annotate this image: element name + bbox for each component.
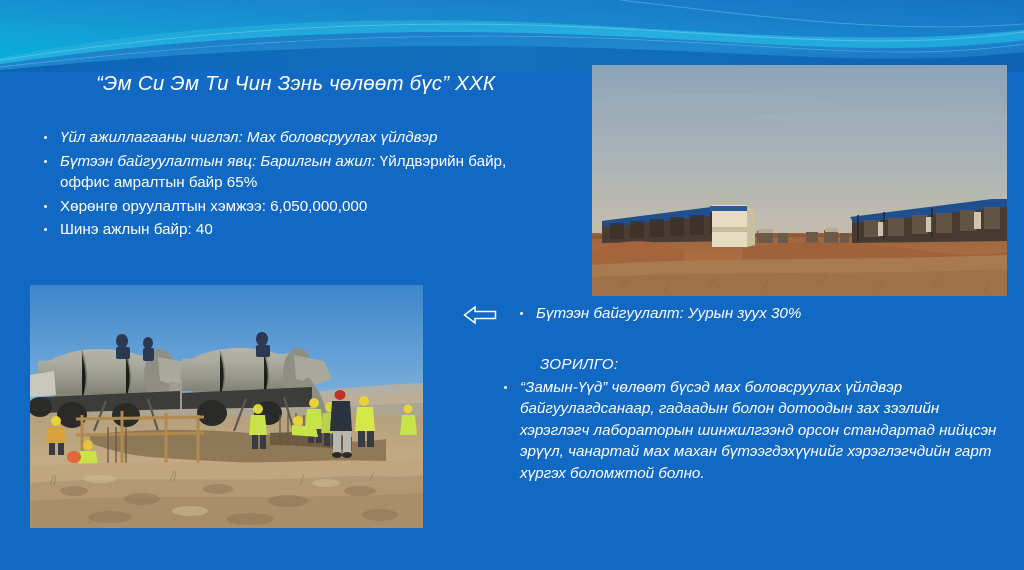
presentation-slide: “Эм Си Эм Ти Чин Зэнь чөлөөт бүс” ХХК Үй… [0, 0, 1024, 570]
goal-block: ЗОРИЛГО: “Замын-Үүд” чөлөөт бүсэд мах бо… [498, 354, 998, 486]
arrow-bullet-list: Бүтээн байгуулалт: Уурын зуух 30% [514, 303, 874, 327]
arrow-left-icon [462, 304, 498, 326]
list-item: Шинэ ажлын байр: 40 [38, 219, 538, 241]
wave-graphic [0, 0, 1024, 72]
top-wave-decoration [0, 0, 1024, 72]
bullet-rest-text: Шинэ ажлын байр: 40 [60, 221, 213, 238]
list-item: Бүтээн байгуулалтын явц: Барилгын ажил: … [38, 151, 538, 194]
main-bullet-list: Үйл ажиллагааны чиглэл: Мах боловсруулах… [38, 127, 538, 243]
bullet-rest-text: Хөрөнгө оруулалтын хэмжээ: 6,050,000,000 [60, 198, 367, 215]
factory-photo-graphic [592, 65, 1007, 296]
goal-heading: ЗОРИЛГО: [540, 354, 998, 376]
arrow-annotation-row: Бүтээн байгуулалт: Уурын зуух 30% [462, 303, 882, 329]
arrow-left-glyph [462, 304, 498, 326]
bullet-lead-text: Бүтээн байгуулалтын явц: Барилгын ажил: [60, 153, 380, 170]
list-item: Хөрөнгө оруулалтын хэмжээ: 6,050,000,000 [38, 196, 538, 218]
slide-title: “Эм Си Эм Ти Чин Зэнь чөлөөт бүс” ХХК [96, 72, 566, 96]
bullet-lead-text: Үйл ажиллагааны чиглэл: Мах боловсруулах… [60, 129, 437, 146]
goal-bullet-list: “Замын-Үүд” чөлөөт бүсэд мах боловсруула… [498, 377, 998, 485]
list-item: Үйл ажиллагааны чиглэл: Мах боловсруулах… [38, 127, 538, 149]
list-item: “Замын-Үүд” чөлөөт бүсэд мах боловсруула… [498, 377, 998, 485]
concrete-mixer-trucks-photo [30, 285, 423, 528]
mixers-photo-graphic [30, 285, 423, 528]
list-item: Бүтээн байгуулалт: Уурын зуух 30% [514, 303, 874, 325]
factory-buildings-photo [592, 65, 1007, 296]
